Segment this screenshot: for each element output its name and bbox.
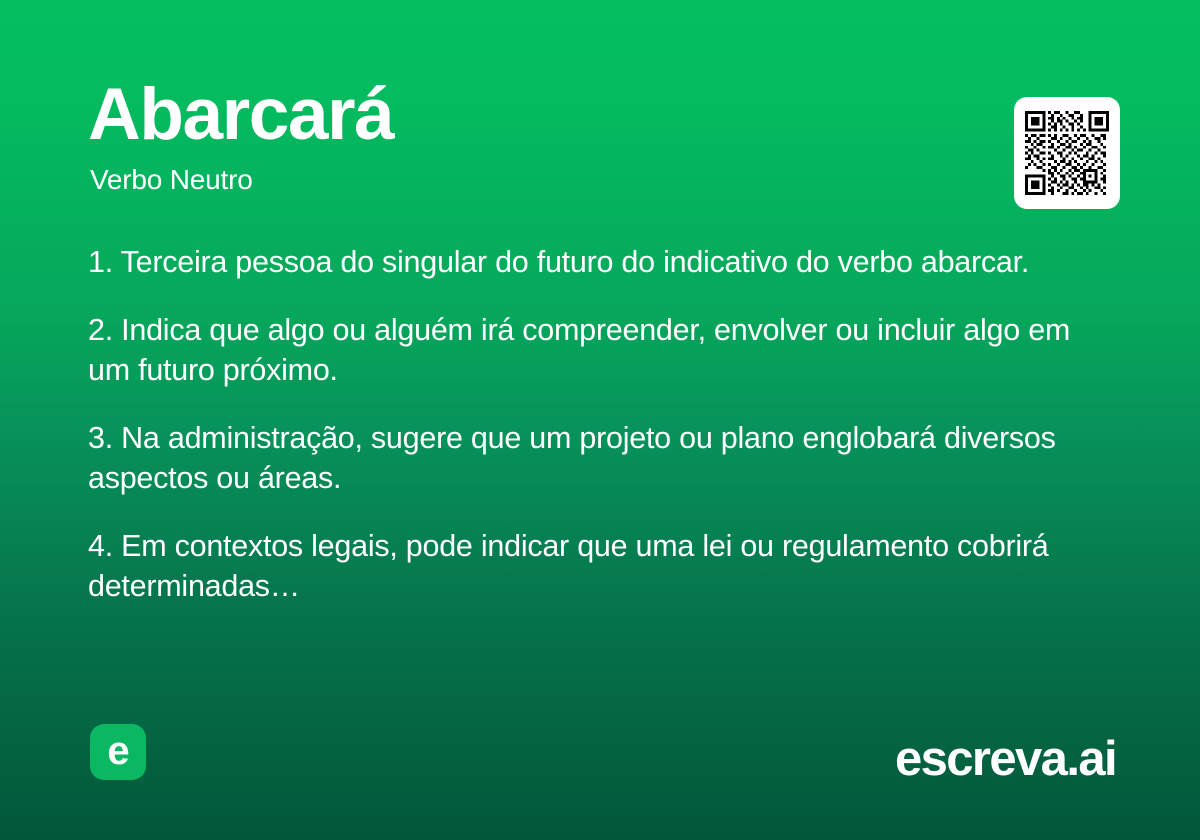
card-header: Abarcará Verbo Neutro [88, 78, 1112, 196]
brand-wordmark: escreva.ai [895, 735, 1116, 784]
definition-item: 3. Na administração, sugere que um proje… [88, 419, 1104, 499]
word-definition-card: Abarcará Verbo Neutro [0, 0, 1200, 840]
definition-item: 2. Indica que algo ou alguém irá compree… [88, 311, 1104, 391]
qr-code-icon [1025, 111, 1109, 195]
definition-list: 1. Terceira pessoa do singular do futuro… [88, 243, 1104, 607]
brand-logo-badge: e [90, 724, 146, 780]
qr-code-panel[interactable] [1014, 97, 1120, 209]
brand-logo-letter: e [107, 731, 128, 771]
definition-item: 4. Em contextos legais, pode indicar que… [88, 527, 1104, 607]
word-title: Abarcará [88, 78, 1112, 151]
word-class-label: Verbo Neutro [90, 165, 1112, 196]
definition-item: 1. Terceira pessoa do singular do futuro… [88, 243, 1104, 283]
